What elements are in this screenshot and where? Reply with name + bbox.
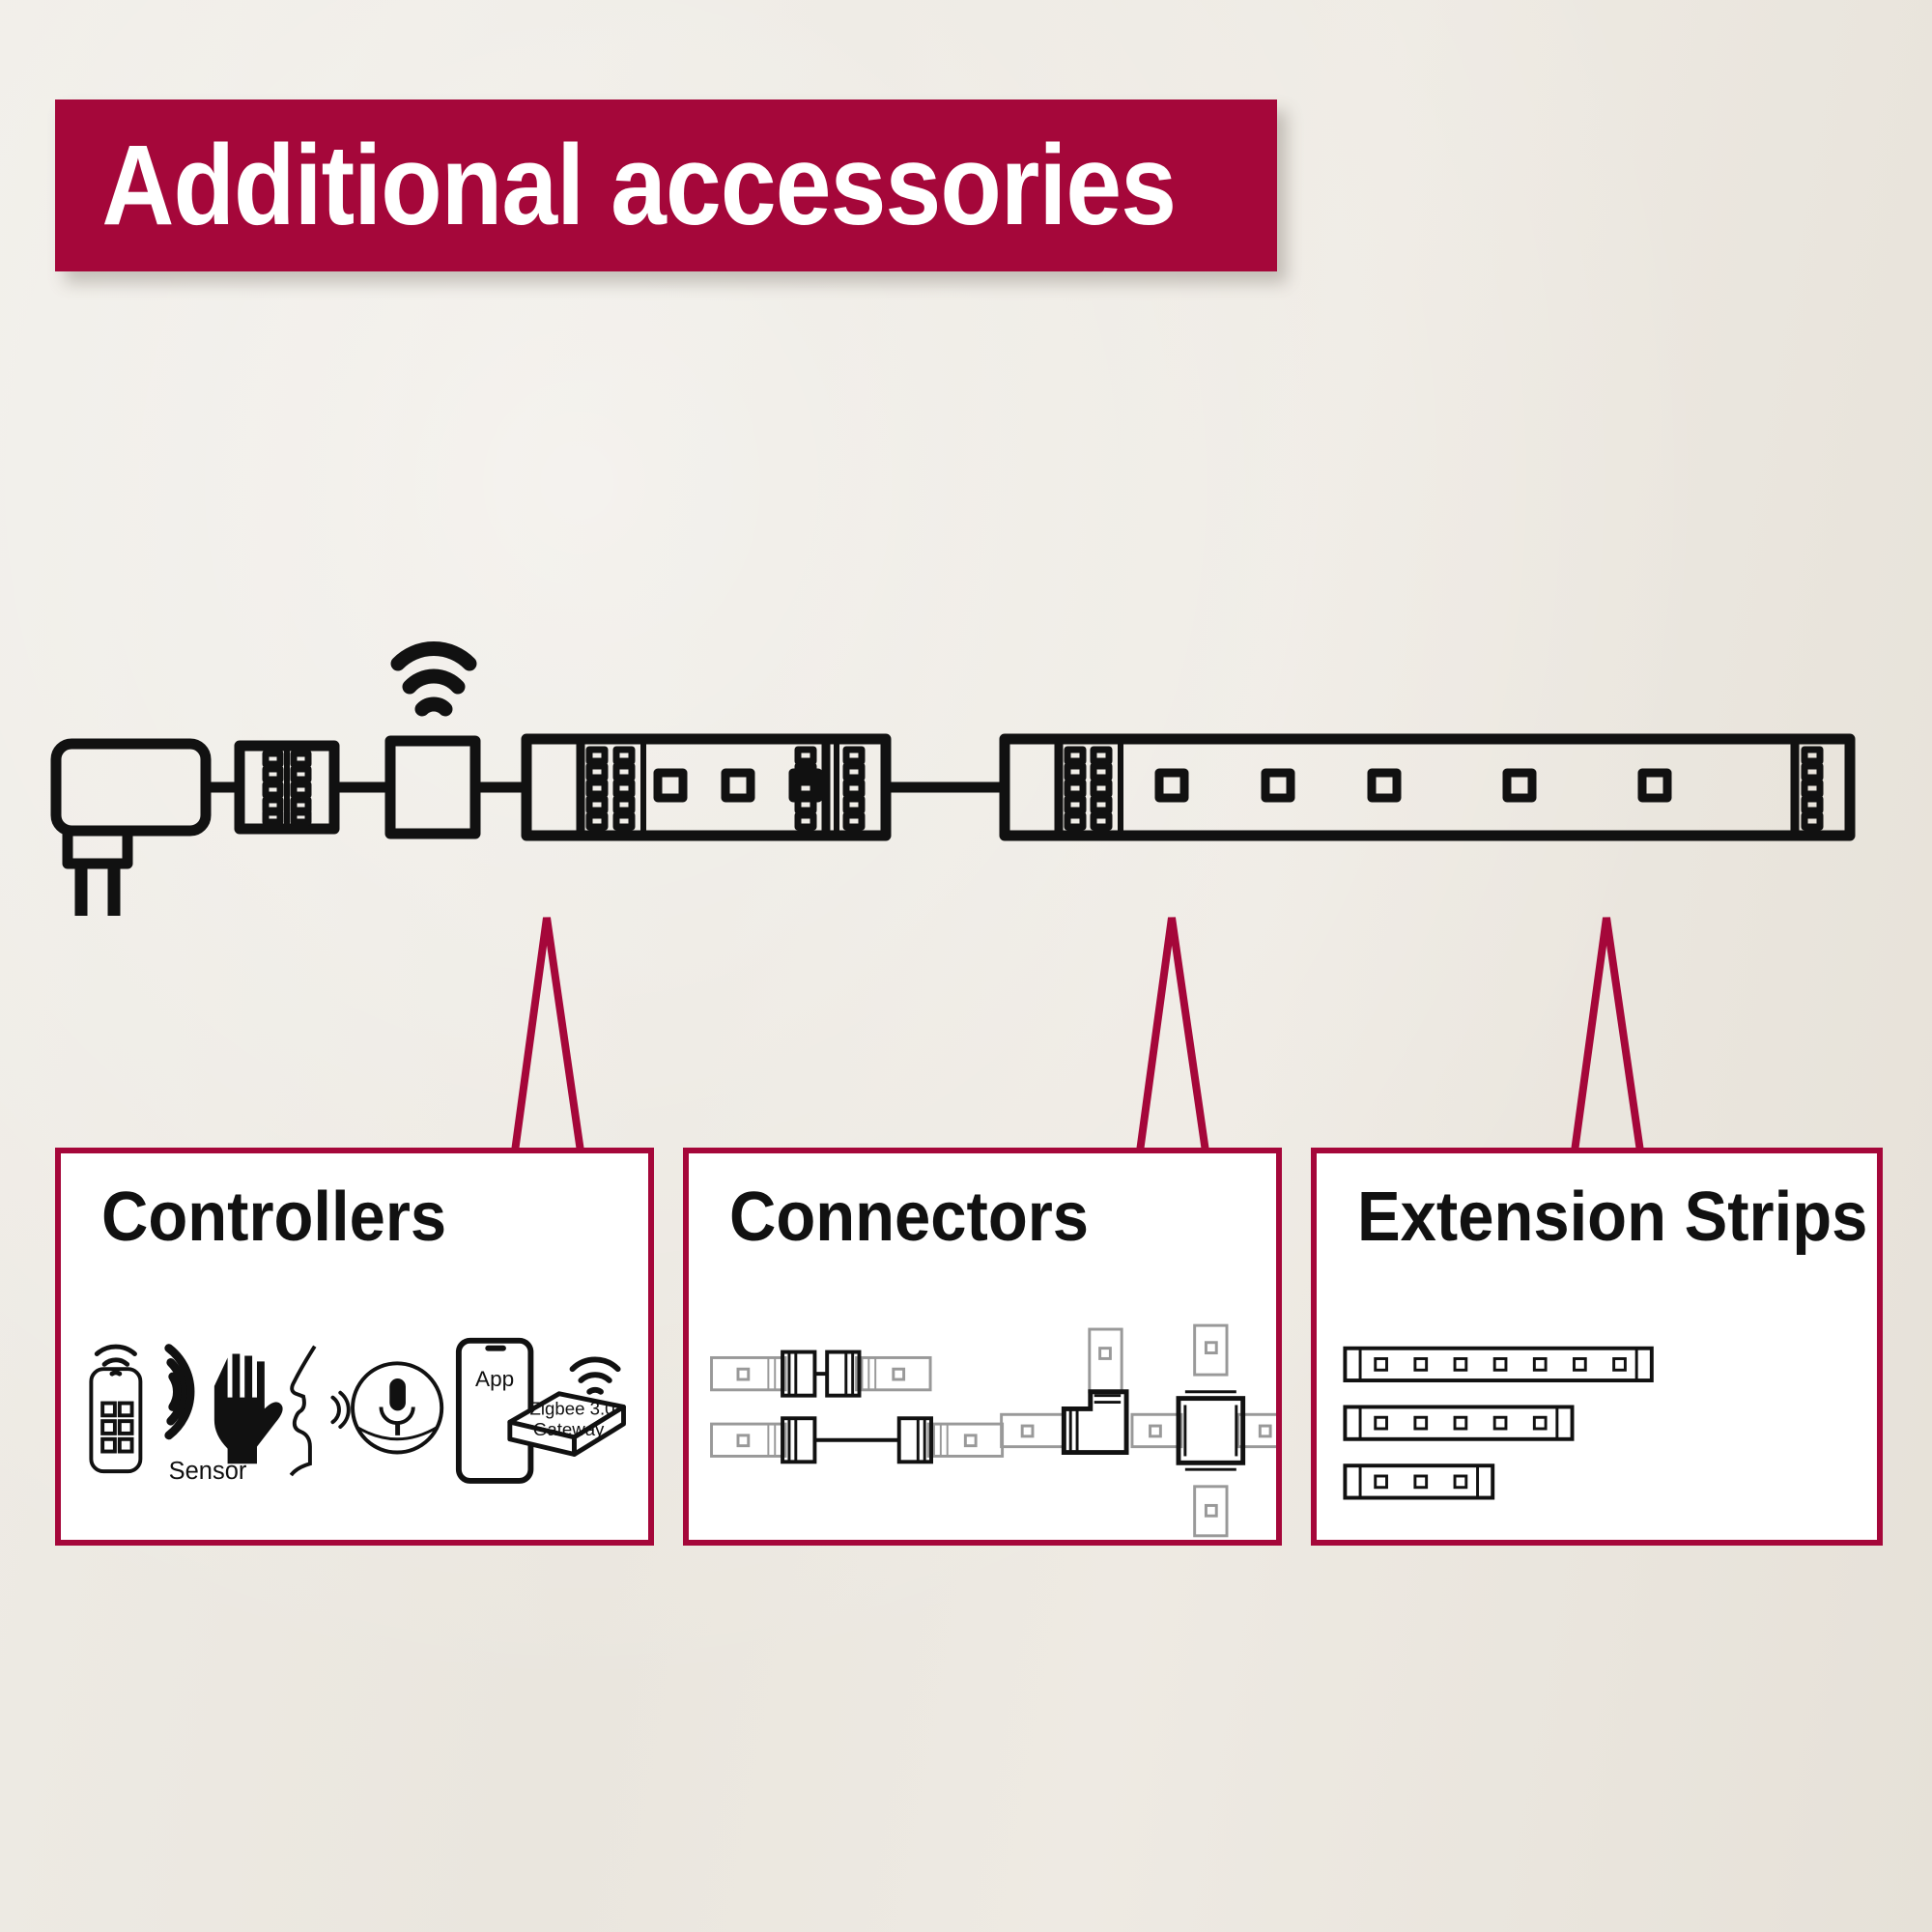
page-title: Additional accessories — [55, 128, 1176, 242]
corner-connector-icon — [1002, 1329, 1126, 1452]
remote-control-icon — [91, 1347, 140, 1471]
motion-sensor-icon: Sensor — [169, 1349, 283, 1485]
short-jumper-connector-icon — [712, 1352, 931, 1396]
led-dot — [658, 773, 818, 798]
callout-title-controllers: Controllers — [101, 1182, 446, 1252]
extension-strip-short-icon — [1345, 1465, 1492, 1497]
hand-icon — [214, 1354, 283, 1464]
callout-box-controllers[interactable]: Controllers — [55, 1148, 654, 1546]
gateway-wifi-icon — [573, 1359, 618, 1391]
voice-waves-icon — [332, 1393, 348, 1427]
voice-assistant-icon — [291, 1347, 441, 1475]
long-jumper-connector-icon — [712, 1418, 1003, 1462]
strip-connector-icon — [240, 746, 334, 829]
wifi-icon — [398, 649, 469, 709]
power-supply-icon — [56, 744, 206, 916]
phone-notch-icon — [485, 1346, 506, 1351]
title-banner: Additional accessories — [55, 99, 1277, 271]
app-label: App — [475, 1367, 514, 1391]
extension-strip-medium-icon — [1345, 1406, 1572, 1438]
zigbee-gateway-label-line2: Gateway — [533, 1419, 605, 1439]
callout-title-extensions: Extension Strips — [1357, 1182, 1867, 1252]
led-strip-segment-2 — [1005, 739, 1850, 836]
microphone-icon — [381, 1378, 412, 1435]
cross-connector-icon — [1132, 1325, 1276, 1536]
smartphone-app-icon: App — [459, 1341, 531, 1481]
sensor-label: Sensor — [169, 1458, 247, 1485]
callout-title-connectors: Connectors — [729, 1182, 1089, 1252]
controller-box-icon — [390, 741, 475, 834]
led-strip-segment-1 — [526, 739, 886, 836]
callout-box-connectors[interactable]: Connectors — [683, 1148, 1282, 1546]
page-background — [0, 0, 1932, 1932]
connectors-icon-row — [689, 1318, 1276, 1540]
zigbee-gateway-label-line1: Zigbee 3.0 — [530, 1398, 615, 1418]
controllers-icon-row: Sensor App — [61, 1318, 648, 1540]
face-profile-icon — [291, 1347, 315, 1475]
extension-strips-icon-row — [1317, 1318, 1877, 1540]
led-dot — [1159, 773, 1667, 798]
zigbee-gateway-icon: Zigbee 3.0 Gateway — [510, 1359, 624, 1454]
callout-box-extensions[interactable]: Extension Strips — [1311, 1148, 1883, 1546]
system-chain-diagram — [0, 638, 1932, 927]
extension-strip-long-icon — [1345, 1349, 1651, 1380]
